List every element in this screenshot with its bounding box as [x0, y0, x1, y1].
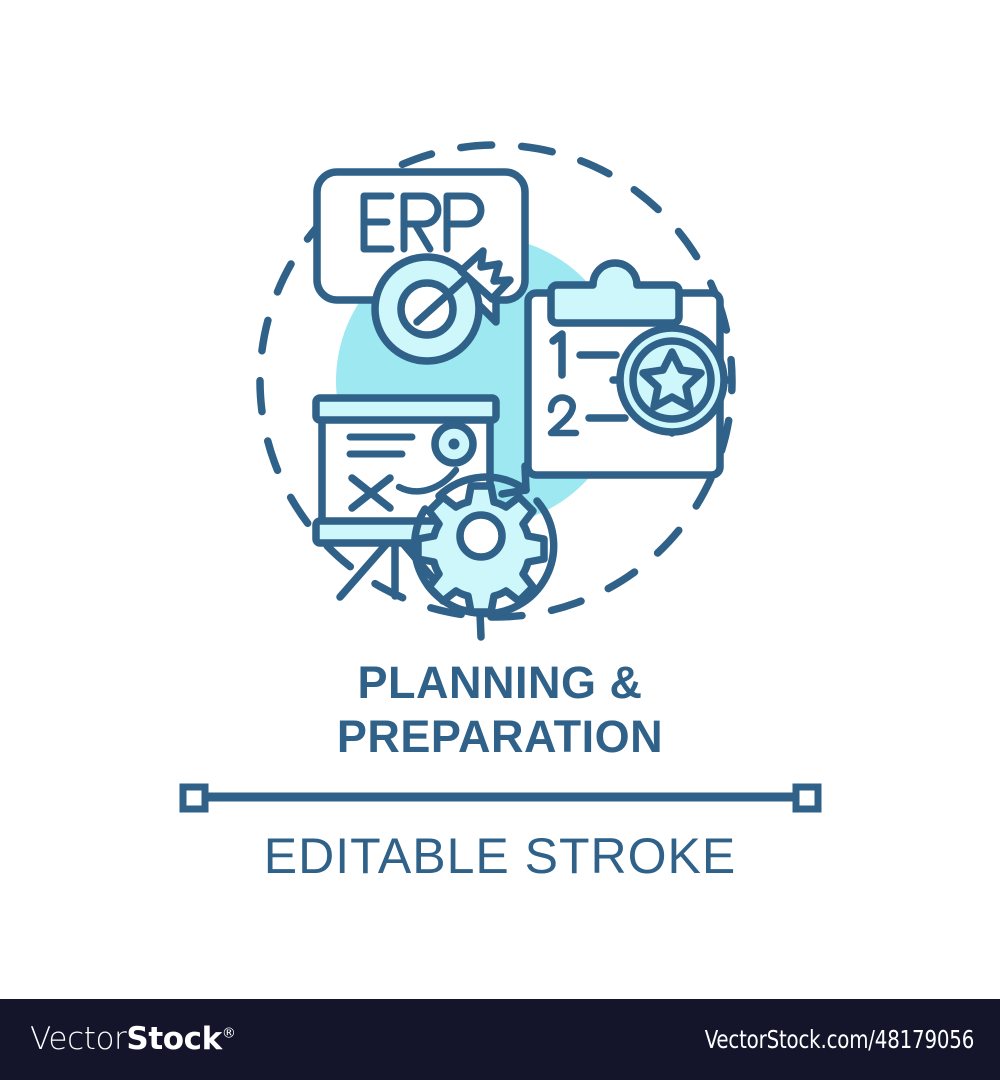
page-title-line1: PLANNING & [358, 657, 643, 708]
page-title-line2: PREPARATION [337, 711, 663, 762]
registered-trademark-icon: ® [222, 1026, 236, 1042]
logo-bold-part: Stock [126, 1021, 221, 1057]
gear-icon [418, 486, 544, 612]
vectorstock-logo: VectorStock® [30, 1024, 235, 1055]
editable-stroke-widget: EDITABLE STROKE [183, 787, 818, 884]
right-handle-square[interactable] [796, 787, 818, 809]
editable-stroke-label: EDITABLE STROKE [264, 828, 737, 884]
watermark-url: VectorStock.com/48179056 [705, 1027, 974, 1052]
logo-thin-part: Vector [30, 1021, 126, 1057]
illustration-stage: .s { fill:none; stroke:#2f6189; stroke-w… [0, 0, 1000, 1000]
left-handle-square[interactable] [183, 787, 205, 809]
watermark-footer: VectorStock® VectorStock.com/48179056 [0, 999, 1000, 1080]
concept-illustration: .s { fill:none; stroke:#2f6189; stroke-w… [0, 0, 1000, 1000]
star-target-badge [613, 327, 731, 433]
